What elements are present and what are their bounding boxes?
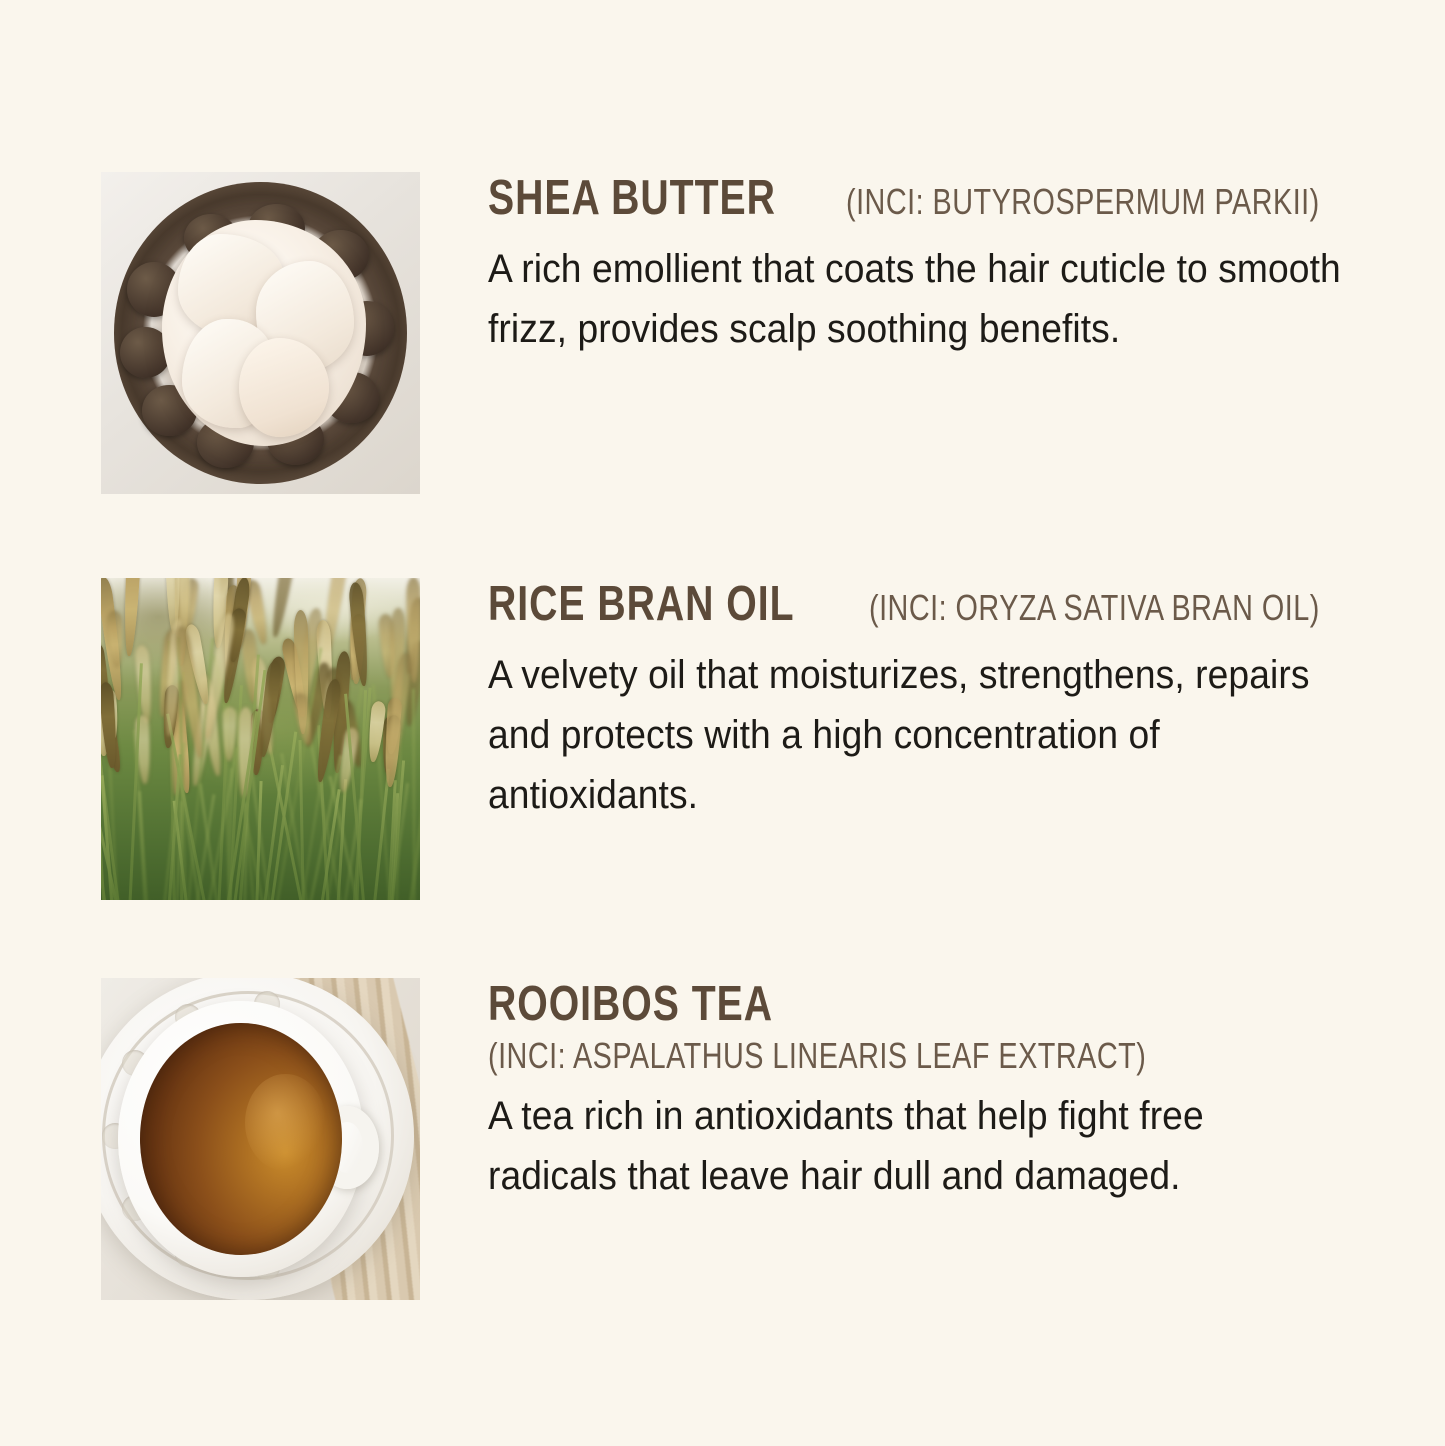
ingredient-heading-rooibos-tea: ROOIBOS TEA — [488, 978, 1385, 1031]
ingredient-inci-rooibos-tea: (INCI: ASPALATHUS LINEARIS LEAF EXTRACT) — [488, 1037, 1206, 1076]
ingredient-inci-rice-bran-oil: (INCI: ORYZA SATIVA BRAN OIL) — [869, 589, 1320, 628]
ingredient-block-shea-butter: SHEA BUTTER(INCI: BUTYROSPERMUM PARKII) … — [0, 172, 1445, 494]
ingredients-infographic: SHEA BUTTER(INCI: BUTYROSPERMUM PARKII) … — [0, 0, 1445, 1446]
ingredient-description-shea-butter: A rich emollient that coats the hair cut… — [488, 239, 1353, 359]
ingredient-name-shea-butter: SHEA BUTTER — [488, 172, 776, 225]
shea-butter-photo — [101, 172, 420, 494]
ingredient-image-shea-butter — [101, 172, 420, 494]
teacup — [118, 1001, 363, 1277]
ingredient-block-rice-bran-oil: RICE BRAN OIL(INCI: ORYZA SATIVA BRAN OI… — [0, 578, 1445, 900]
ingredient-block-rooibos-tea: ROOIBOS TEA (INCI: ASPALATHUS LINEARIS L… — [0, 978, 1445, 1300]
ingredient-text-shea-butter: SHEA BUTTER(INCI: BUTYROSPERMUM PARKII) … — [420, 172, 1445, 359]
ingredient-inci-shea-butter: (INCI: BUTYROSPERMUM PARKII) — [846, 183, 1320, 222]
ingredient-heading-shea-butter: SHEA BUTTER(INCI: BUTYROSPERMUM PARKII) — [488, 172, 1438, 225]
ingredient-image-rice-bran-oil — [101, 578, 420, 900]
ingredient-description-rooibos-tea: A tea rich in antioxidants that help fig… — [488, 1086, 1322, 1206]
grain-stalk — [412, 689, 416, 900]
ingredient-name-rice-bran-oil: RICE BRAN OIL — [488, 578, 794, 631]
ingredient-name-rooibos-tea: ROOIBOS TEA — [488, 978, 773, 1031]
ingredient-inci-line-rooibos-tea: (INCI: ASPALATHUS LINEARIS LEAF EXTRACT) — [488, 1037, 1385, 1076]
tea-liquid — [140, 1023, 341, 1255]
rooibos-tea-photo — [101, 978, 420, 1300]
ingredient-text-rooibos-tea: ROOIBOS TEA (INCI: ASPALATHUS LINEARIS L… — [420, 978, 1445, 1206]
ingredient-text-rice-bran-oil: RICE BRAN OIL(INCI: ORYZA SATIVA BRAN OI… — [420, 578, 1445, 825]
ingredient-description-rice-bran-oil: A velvety oil that moisturizes, strength… — [488, 645, 1325, 825]
tea-highlight — [245, 1074, 326, 1171]
ingredient-heading-rice-bran-oil: RICE BRAN OIL(INCI: ORYZA SATIVA BRAN OI… — [488, 578, 1433, 631]
ingredient-image-rooibos-tea — [101, 978, 420, 1300]
rice-field-photo — [101, 578, 420, 900]
